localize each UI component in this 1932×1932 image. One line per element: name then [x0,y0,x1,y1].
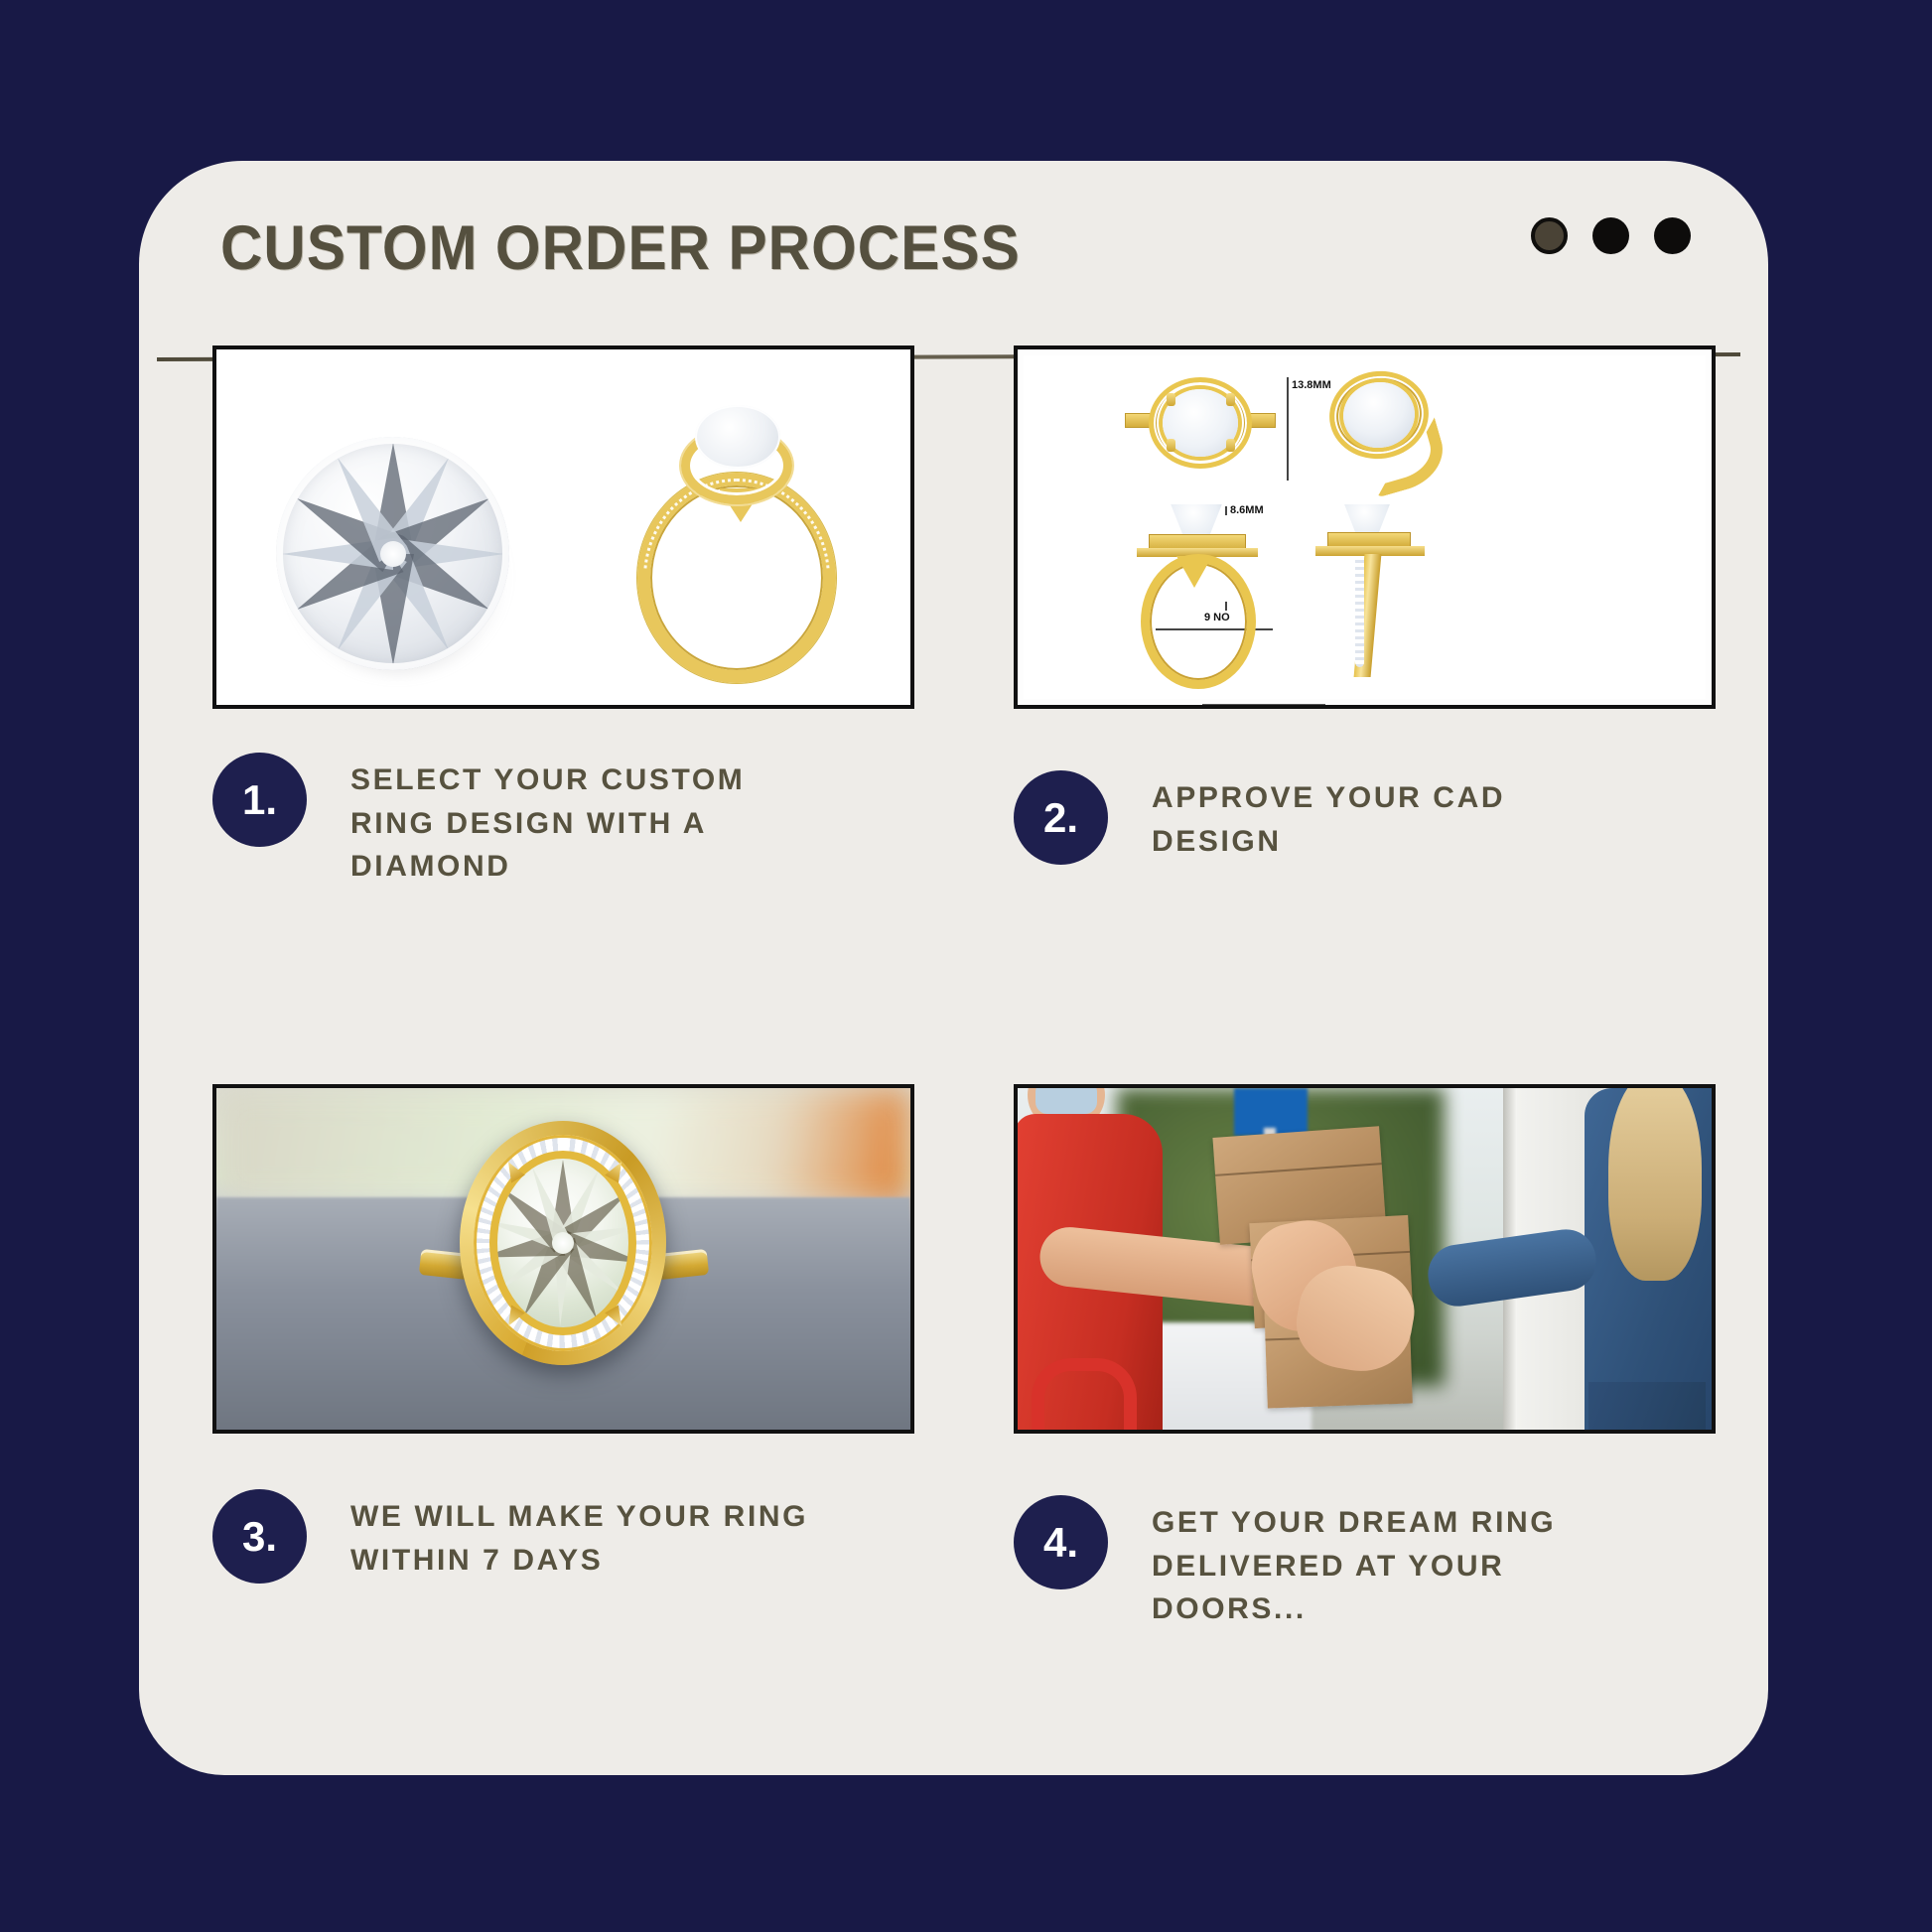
cad-cross-section-view [1311,504,1441,693]
step-4-badge: 4. [1014,1495,1108,1589]
window-controls[interactable] [1531,217,1691,254]
cad-side-view [1119,504,1282,693]
loose-diamond-icon [276,437,514,675]
face-mask-icon [1035,1084,1097,1114]
step-4-label: GET YOUR DREAM RING DELIVERED AT YOUR DO… [1152,1495,1618,1631]
step-1: 1. SELECT YOUR CUSTOM RING DESIGN WITH A… [212,345,914,889]
cad-sheet: 13.8MM 8.6MM 9 NO [1024,355,1706,699]
poster-canvas: CUSTOM ORDER PROCESS [0,0,1932,1932]
step-1-label: SELECT YOUR CUSTOM RING DESIGN WITH A DI… [350,753,817,889]
step-3-caption: 3. WE WILL MAKE YOUR RING WITHIN 7 DAYS [212,1489,914,1584]
step-2: 13.8MM 8.6MM 9 NO [1014,345,1716,865]
finished-gold-halo-ring-icon [434,1103,694,1401]
step-4-caption: 4. GET YOUR DREAM RING DELIVERED AT YOUR… [1014,1495,1716,1631]
dot-black-1-icon[interactable] [1592,217,1629,254]
page-title: CUSTOM ORDER PROCESS [220,212,1021,284]
dot-black-2-icon[interactable] [1654,217,1691,254]
step-2-caption: 2. APPROVE YOUR CAD DESIGN [1014,770,1716,865]
step-3: 3. WE WILL MAKE YOUR RING WITHIN 7 DAYS [212,1084,914,1584]
customer-jeans [1588,1382,1706,1434]
step-1-image [212,345,914,709]
red-hand-trolley [1032,1358,1137,1434]
customer-hair [1608,1084,1702,1281]
cad-face-view [1131,375,1270,471]
step-4: 4. GET YOUR DREAM RING DELIVERED AT YOUR… [1014,1084,1716,1631]
gwt-18k-label: GWT 18K [1202,705,1261,710]
step-3-badge: 3. [212,1489,307,1584]
step-2-badge: 2. [1014,770,1108,865]
step-3-label: WE WILL MAKE YOUR RING WITHIN 7 DAYS [350,1489,817,1582]
step-1-badge: 1. [212,753,307,847]
browser-card: CUSTOM ORDER PROCESS [139,161,1768,1775]
dot-olive-icon[interactable] [1531,217,1568,254]
cad-code: STLR-0388 [1282,705,1324,710]
step-3-image [212,1084,914,1434]
cad-spec-table: GWT 18K 4.50 STLR-0388 GWT 14K 3.90 VK [1127,704,1325,709]
steps-grid: 1. SELECT YOUR CUSTOM RING DESIGN WITH A… [139,345,1768,1775]
dim-height-line [1287,377,1289,481]
step-2-image: 13.8MM 8.6MM 9 NO [1014,345,1716,709]
card-header: CUSTOM ORDER PROCESS [139,161,1768,362]
gold-halo-ring-profile-icon [604,401,872,689]
step-4-image [1014,1084,1716,1434]
cad-perspective-view [1311,371,1460,488]
gwt-18k-value: 4.50 [1261,705,1282,710]
step-2-label: APPROVE YOUR CAD DESIGN [1152,770,1618,863]
step-1-caption: 1. SELECT YOUR CUSTOM RING DESIGN WITH A… [212,753,914,889]
